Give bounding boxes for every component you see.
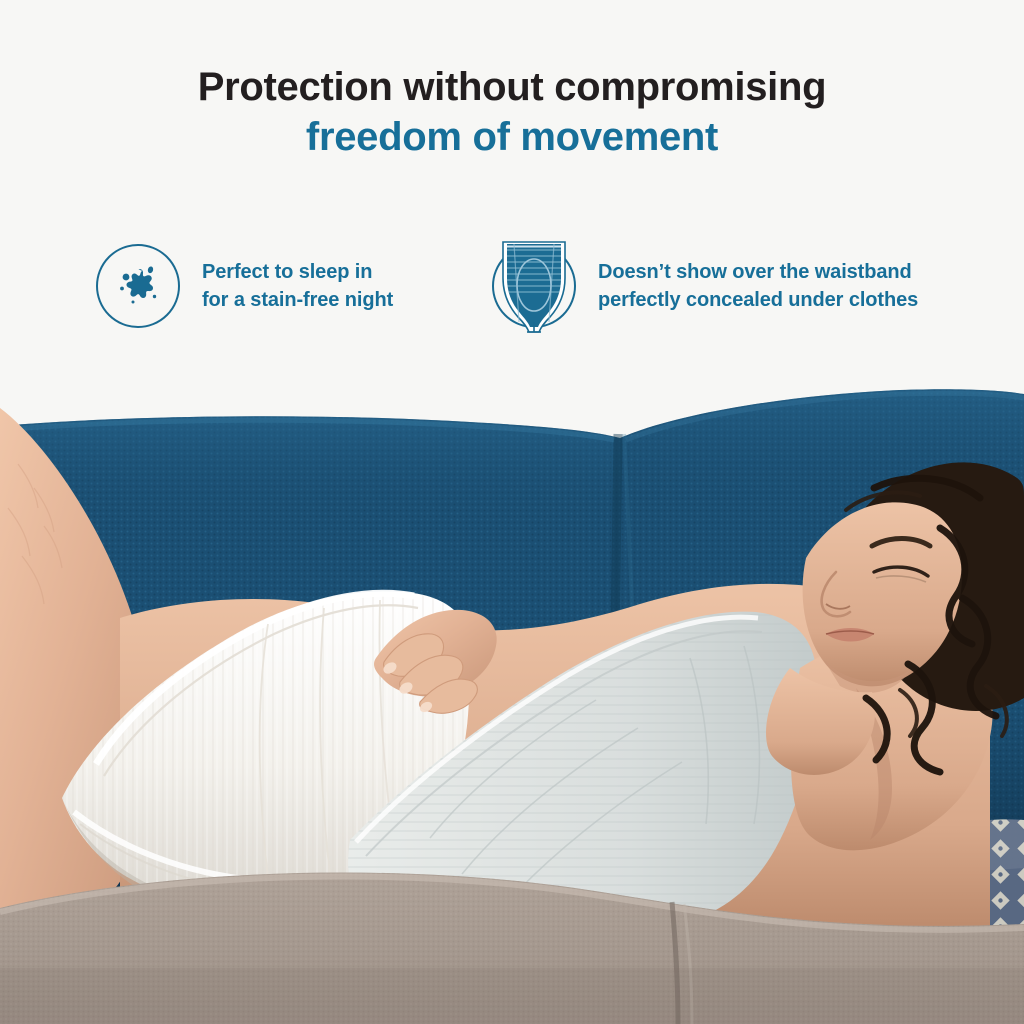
feature-text-concealed: Doesn’t show over the waistband perfectl…	[598, 258, 918, 314]
feature-line-1: Perfect to sleep in	[202, 258, 393, 286]
absorbent-brief-icon	[492, 244, 576, 328]
feature-line-2: perfectly concealed under clothes	[598, 286, 918, 314]
headline-line-1: Protection without compromising	[0, 62, 1024, 112]
feature-line-2: for a stain-free night	[202, 286, 393, 314]
feature-text-stain-free: Perfect to sleep in for a stain-free nig…	[202, 258, 393, 314]
feature-item-stain-free: Perfect to sleep in for a stain-free nig…	[96, 244, 393, 328]
promo-image: Protection without compromising freedom …	[0, 0, 1024, 1024]
headline-line-2: freedom of movement	[0, 112, 1024, 162]
feature-item-concealed: Doesn’t show over the waistband perfectl…	[492, 244, 918, 328]
feature-list: Perfect to sleep in for a stain-free nig…	[0, 236, 1024, 346]
lifestyle-photo	[0, 368, 1024, 1024]
stain-splash-icon	[96, 244, 180, 328]
feature-line-1: Doesn’t show over the waistband	[598, 258, 918, 286]
headline: Protection without compromising freedom …	[0, 62, 1024, 162]
